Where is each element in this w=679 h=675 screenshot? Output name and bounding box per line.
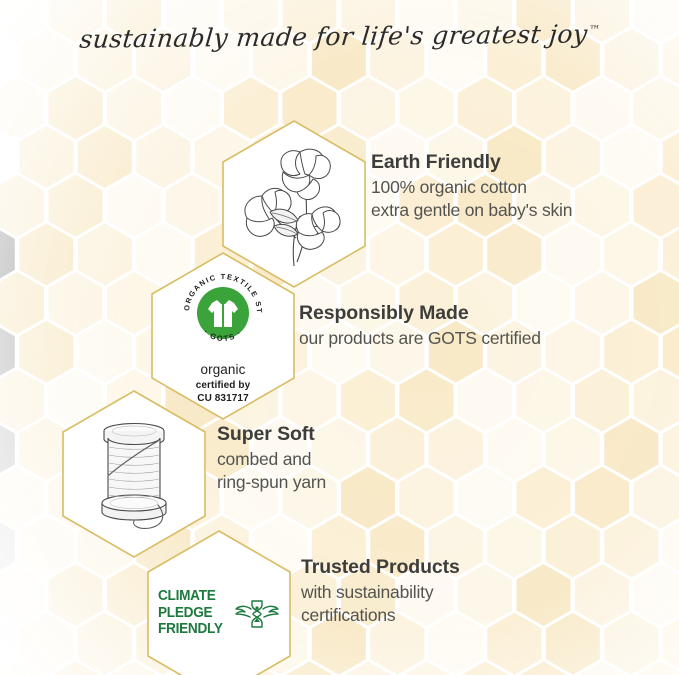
gots-caption-organic: organic xyxy=(201,362,246,377)
climate-pledge-friendly-icon: CLIMATE PLEDGE FRIENDLY xyxy=(158,589,280,639)
trademark-symbol: ™ xyxy=(588,23,601,36)
feature-earth-friendly: Earth Friendly 100% organic cotton extra… xyxy=(0,118,679,268)
feature-responsibly-text: Responsibly Made our products are GOTS c… xyxy=(299,302,541,350)
feature-trusted-products: CLIMATE PLEDGE FRIENDLY xyxy=(0,528,679,675)
headline-text-wrap: sustainably made for life's greatest joy… xyxy=(78,19,601,53)
feature-responsibly-made: GLOBAL ORGANIC TEXTILE STANDARD · GOTS ·… xyxy=(0,250,679,400)
climate-pledge-wordmark: CLIMATE PLEDGE FRIENDLY xyxy=(158,589,227,639)
hexagon-frame-climate-pledge: CLIMATE PLEDGE FRIENDLY xyxy=(143,528,295,675)
climate-word-3: FRIENDLY xyxy=(158,622,223,637)
feature-line: combed and xyxy=(217,448,326,471)
feature-line: our products are GOTS certified xyxy=(299,327,541,350)
feature-title: Trusted Products xyxy=(301,556,460,579)
feature-super-soft-text: Super Soft combed and ring-spun yarn xyxy=(217,423,326,494)
gots-badge: GLOBAL ORGANIC TEXTILE STANDARD · GOTS ·… xyxy=(179,269,267,404)
thread-spool-sketch-icon xyxy=(78,409,190,539)
feature-super-soft: Super Soft combed and ring-spun yarn xyxy=(0,388,679,538)
climate-word-2: PLEDGE xyxy=(158,606,223,621)
infographic-page: sustainably made for life's greatest joy… xyxy=(0,0,679,675)
feature-line: with sustainability xyxy=(301,581,460,604)
feature-title: Responsibly Made xyxy=(299,302,541,325)
gots-organic-certification-icon: GLOBAL ORGANIC TEXTILE STANDARD · GOTS · xyxy=(179,269,267,357)
feature-line: 100% organic cotton xyxy=(371,176,572,199)
feature-line: ring-spun yarn xyxy=(217,471,326,494)
feature-title: Super Soft xyxy=(217,423,326,446)
climate-word-1: CLIMATE xyxy=(158,589,223,604)
feature-title: Earth Friendly xyxy=(371,151,572,174)
headline: sustainably made for life's greatest joy… xyxy=(0,22,679,51)
climate-pledge-icon-holder: CLIMATE PLEDGE FRIENDLY xyxy=(143,528,295,675)
feature-earth-text: Earth Friendly 100% organic cotton extra… xyxy=(371,151,572,222)
feature-trusted-text: Trusted Products with sustainability cer… xyxy=(301,556,460,627)
winged-hourglass-icon xyxy=(234,591,280,637)
headline-text: sustainably made for life's greatest joy xyxy=(78,19,589,53)
feature-line: extra gentle on baby's skin xyxy=(371,199,572,222)
feature-line: certifications xyxy=(301,604,460,627)
